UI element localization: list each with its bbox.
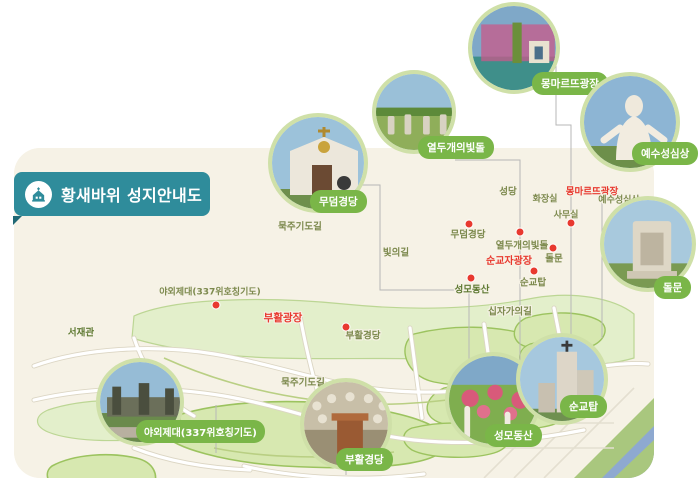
photo-dolmun[interactable]: 돌문 [600,196,696,292]
photo-yeoldugae[interactable]: 열두개의빛돌 [372,70,456,154]
pin-yeoldugae[interactable] [516,228,525,237]
photo-mudeom-gyeongdang[interactable]: 무덤경당 [268,113,368,213]
pin-buhwal-gyeongdang[interactable] [342,323,351,332]
map-label-seojaegwan: 서재관 [68,328,94,338]
pin-sungyotap[interactable] [530,267,539,276]
photo-yaoejedae[interactable]: 야외제대(337위호칭기도) [96,358,184,446]
map-label-yeoldugae: 열두개의빛돌 [496,241,548,251]
map-label-mukjugidogil-1: 묵주기도길 [278,222,322,232]
map-title-text: 황새바위 성지안내도 [61,182,202,206]
photo-yesu-seongsimsang-caption: 예수성심상 [632,142,698,165]
photo-yeoldugae-caption: 열두개의빛돌 [418,136,494,159]
photo-yaoejedae-caption: 야외제대(337위호칭기도) [136,420,265,443]
photo-dolmun-caption: 돌문 [654,276,691,299]
pin-seongmo-dongsan[interactable] [467,274,476,283]
map-label-sipjagaeuigil: 십자가의길 [488,307,532,317]
map-label-bichuigil: 빛의길 [383,248,409,258]
photo-sungyotap-caption: 순교탑 [560,395,607,418]
map-label-mudeom-gyeongdang: 무덤경당 [451,230,486,240]
photo-mudeom-gyeongdang-caption: 무덤경당 [310,190,367,213]
photo-yesu-seongsimsang[interactable]: 예수성심상 [580,72,680,172]
church-badge-icon [25,181,52,208]
photo-montmartre[interactable]: 몽마르뜨광장 [468,2,560,94]
map-label-buhwal-gyeongdang: 부활경당 [346,331,381,341]
map-label-hwajangsil: 화장실 [533,196,558,205]
pin-dolmun[interactable] [549,244,558,253]
pin-yaoejedae[interactable] [212,301,221,310]
photo-seongmo-dongsan-caption: 성모동산 [485,424,542,447]
map-label-seongmo-dongsan: 성모동산 [455,285,490,295]
photo-sungyotap[interactable]: 순교탑 [516,333,608,425]
photo-buhwal-gyeongdang[interactable]: 부활경당 [300,378,392,470]
map-label-dolmun: 돌문 [545,254,562,264]
map-label-yaoejedae: 야외제대(337위호칭기도) [159,289,261,298]
map-label-buhwal-gwangjang: 부활광장 [264,313,303,324]
photo-buhwal-gyeongdang-caption: 부활경당 [336,448,393,471]
map-label-seongdang: 성당 [499,187,516,197]
map-label-samusil: 사무실 [554,212,579,221]
pin-montmartre[interactable] [567,219,576,228]
map-page: 황새바위 성지안내도 무덤경당묵주기도길빛의길야 [0,0,700,485]
map-label-sungyotap: 순교탑 [520,278,546,288]
map-label-sungyoja-gwangjang: 순교자광장 [486,257,532,267]
pin-mudeom-gyeongdang[interactable] [465,220,474,229]
map-title-banner: 황새바위 성지안내도 [14,172,210,216]
